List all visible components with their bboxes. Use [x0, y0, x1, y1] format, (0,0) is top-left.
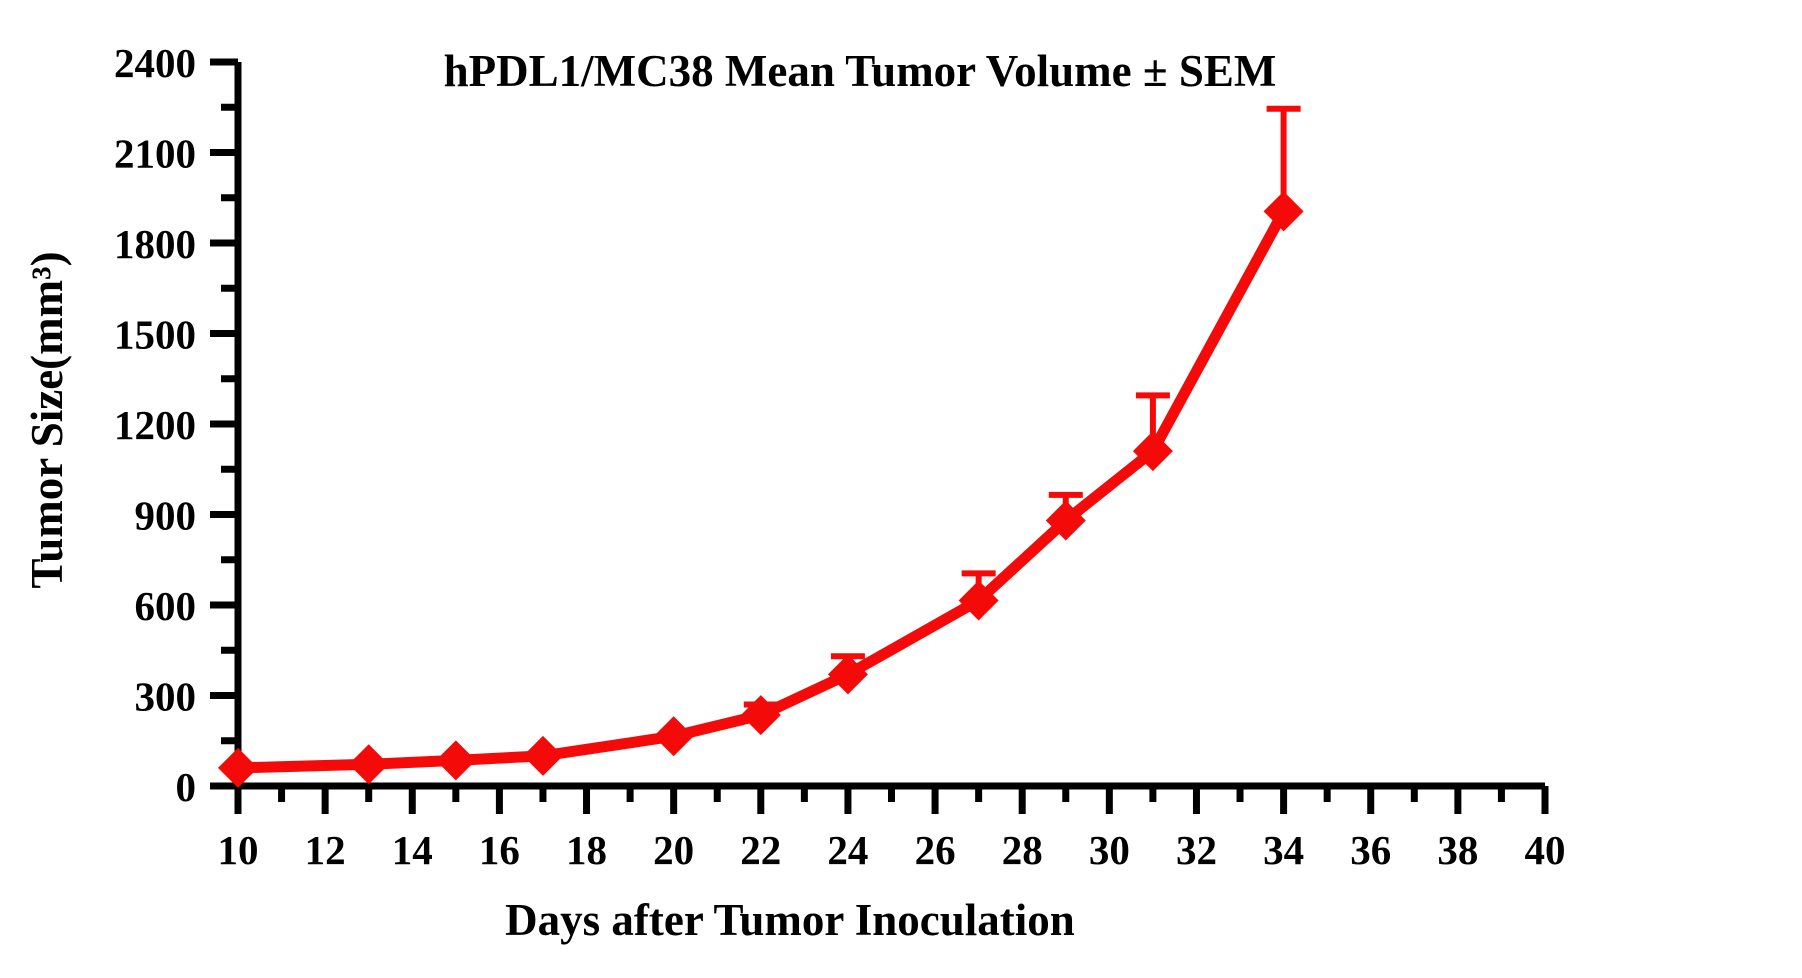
x-tick-label: 18	[566, 827, 607, 873]
x-tick-label: 40	[1525, 827, 1566, 873]
y-tick-label: 2400	[114, 40, 196, 86]
y-axis-title: Tumor Size(mm³)	[22, 251, 72, 588]
x-tick-label: 10	[218, 827, 259, 873]
y-tick-label: 900	[135, 493, 197, 539]
x-tick-label: 34	[1263, 827, 1304, 873]
chart-figure: hPDL1/MC38 Mean Tumor Volume ± SEM 03006…	[0, 0, 1802, 978]
x-tick-label: 16	[479, 827, 520, 873]
x-tick-label: 20	[653, 827, 694, 873]
x-tick-label: 24	[827, 827, 868, 873]
y-tick-label: 2100	[114, 131, 196, 177]
y-tick-label: 0	[176, 764, 197, 810]
y-tick-label: 1800	[114, 221, 196, 267]
chart-title: hPDL1/MC38 Mean Tumor Volume ± SEM	[444, 46, 1277, 96]
x-tick-label: 32	[1176, 827, 1217, 873]
x-tick-label: 12	[305, 827, 346, 873]
y-tick-label: 300	[135, 674, 197, 720]
y-tick-label: 1200	[114, 402, 196, 448]
y-tick-label: 600	[135, 583, 197, 629]
x-tick-label: 28	[1002, 827, 1043, 873]
x-tick-label: 26	[915, 827, 956, 873]
x-tick-label: 36	[1350, 827, 1391, 873]
x-tick-label: 38	[1437, 827, 1478, 873]
x-tick-label: 22	[740, 827, 781, 873]
y-tick-label: 1500	[114, 312, 196, 358]
tumor-growth-line-chart: hPDL1/MC38 Mean Tumor Volume ± SEM 03006…	[0, 0, 1802, 978]
x-axis-title: Days after Tumor Inoculation	[505, 895, 1075, 945]
x-tick-label: 30	[1089, 827, 1130, 873]
x-tick-label: 14	[392, 827, 433, 873]
